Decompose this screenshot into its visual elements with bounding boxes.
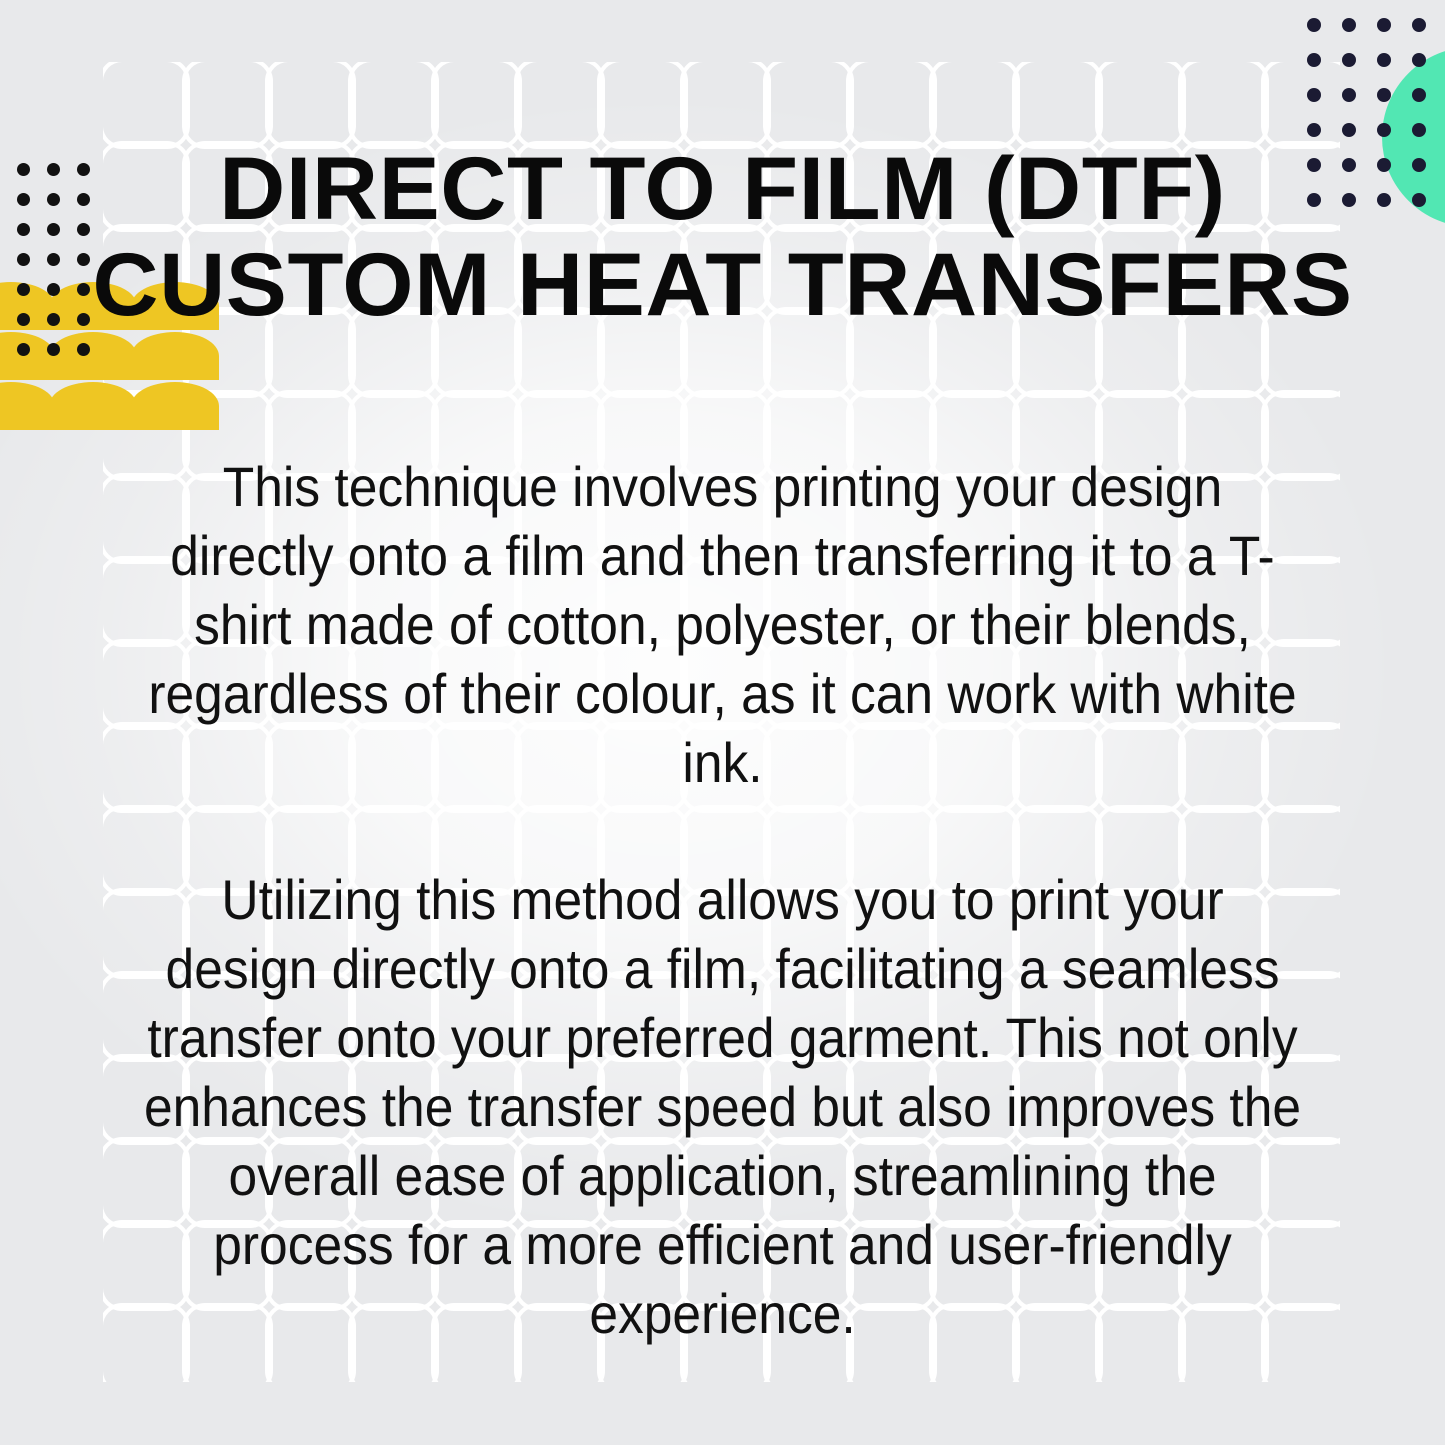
halfcircle (49, 382, 137, 430)
dot (77, 343, 90, 356)
dot (1412, 18, 1426, 32)
poster-canvas: DIRECT TO FILM (DTF) CUSTOM HEAT TRANSFE… (0, 0, 1445, 1445)
grid-tile (684, 62, 767, 145)
grid-tile (186, 62, 269, 145)
grid-tile (767, 62, 850, 145)
grid-tile (1182, 62, 1265, 145)
body-paragraph-1: This technique involves printing your de… (142, 452, 1302, 797)
dot (1377, 53, 1391, 67)
grid-tile (518, 62, 601, 145)
dot (47, 343, 60, 356)
halfcircle-row (0, 382, 213, 430)
dot (1377, 88, 1391, 102)
dot (1412, 88, 1426, 102)
grid-tile (352, 62, 435, 145)
body-copy: This technique involves printing your de… (92, 452, 1353, 1348)
halfcircle (0, 382, 55, 430)
dot (1307, 18, 1321, 32)
grid-tile (103, 62, 186, 145)
grid-tile (435, 62, 518, 145)
grid-tile (850, 62, 933, 145)
grid-tile (933, 62, 1016, 145)
dot (1307, 88, 1321, 102)
dot (1342, 123, 1356, 137)
dot (17, 343, 30, 356)
dot (1412, 123, 1426, 137)
page-title-line-1: DIRECT TO FILM (DTF) (0, 140, 1445, 236)
poster-content: DIRECT TO FILM (DTF) CUSTOM HEAT TRANSFE… (0, 0, 1445, 1445)
dot (1342, 88, 1356, 102)
page-title: DIRECT TO FILM (DTF) CUSTOM HEAT TRANSFE… (0, 140, 1445, 332)
page-title-line-2: CUSTOM HEAT TRANSFERS (0, 236, 1445, 332)
dot (1307, 123, 1321, 137)
dot (1307, 53, 1321, 67)
halfcircle (131, 332, 219, 380)
grid-tile (601, 62, 684, 145)
body-paragraph-2: Utilizing this method allows you to prin… (142, 865, 1302, 1348)
grid-tile (1099, 62, 1182, 145)
dot (1342, 53, 1356, 67)
dot (1342, 18, 1356, 32)
dot (1377, 18, 1391, 32)
grid-tile (1016, 62, 1099, 145)
halfcircle (131, 382, 219, 430)
dot (1412, 53, 1426, 67)
dot (1377, 123, 1391, 137)
grid-tile (269, 62, 352, 145)
